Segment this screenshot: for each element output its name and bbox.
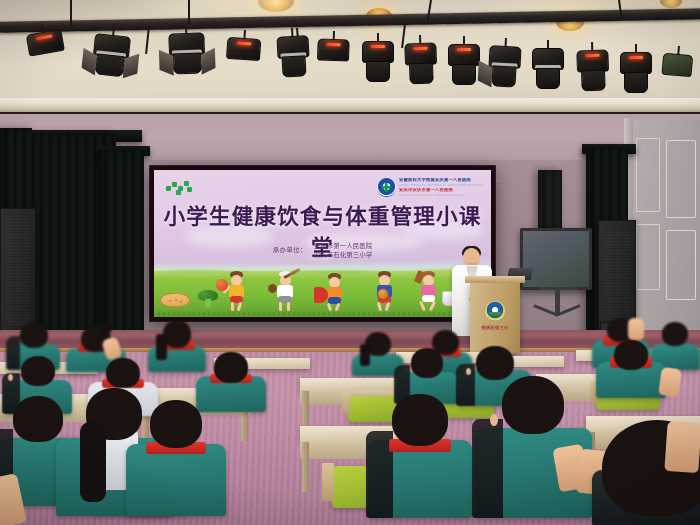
student-ear	[490, 414, 498, 426]
student-shoulder-dark-left	[472, 419, 503, 518]
broccoli-illustration-icon	[198, 290, 218, 308]
stage-curtain-right-inner	[538, 170, 562, 234]
slide-subtitle-values: 安庆市第一人民医院 安庆市石化第三小学	[314, 242, 373, 259]
student-head	[163, 320, 191, 348]
stage-light-5	[276, 27, 310, 77]
student-r3-3	[126, 400, 226, 516]
hospital-name-red-en: Public First Hospital of Anhui Province	[399, 194, 485, 197]
lamp-barndoor	[491, 65, 516, 87]
child-leg-right	[429, 301, 436, 311]
display-rolling-stand	[535, 289, 581, 323]
cartoon-child-baseball	[272, 271, 298, 311]
student-ear	[466, 368, 471, 375]
child-leg-left	[327, 303, 332, 312]
student-ponytail	[156, 334, 167, 360]
child-leg-right	[335, 303, 341, 312]
stage-light-10	[488, 37, 522, 87]
student-r2-6	[596, 340, 666, 398]
ceiling-pot-light-1	[258, 0, 294, 12]
school-crest-icon	[485, 301, 505, 321]
stage-light-9	[448, 36, 480, 84]
organizer-2: 安庆市石化第三小学	[314, 251, 373, 259]
truss-support-wire-1	[70, 0, 72, 26]
stage-light-4	[225, 29, 262, 81]
student-head	[150, 400, 202, 448]
hospital-name-en: ANHUI MEDICAL UNIVERSITY AFFILIATED HOSP…	[399, 184, 485, 187]
lamp-body	[661, 53, 693, 78]
cartoon-child-running-2	[416, 271, 442, 311]
wall-panel-moulding-1	[636, 138, 660, 212]
student-head	[502, 376, 564, 434]
student-head	[106, 358, 140, 388]
student-r3-7-far-left-foreground	[0, 466, 70, 525]
lamp-barndoor	[281, 55, 306, 77]
student-head	[476, 346, 514, 380]
lamp-indicator-led	[629, 56, 643, 59]
lamp-barndoor	[452, 64, 476, 85]
stage-light-13	[620, 44, 652, 92]
hospital-name-red: 安庆市安庆市第一人民医院	[399, 188, 485, 193]
left-line-array-speaker	[0, 208, 36, 336]
lamp-barndoor	[366, 61, 390, 82]
organizer-1: 安庆市第一人民医院	[314, 242, 373, 250]
cartoon-child-running-1	[322, 273, 346, 311]
slide-subtitle: 承办单位： 安庆市第一人民医院 安庆市石化第三小学	[154, 242, 491, 259]
lamp-barndoor	[581, 70, 606, 92]
student-head	[614, 340, 648, 370]
interactive-flat-panel-display[interactable]	[520, 228, 592, 290]
ceiling-pot-light-4	[660, 0, 682, 8]
school-crest-label: 安庆石化三小	[470, 325, 520, 331]
child-leg-left	[231, 302, 234, 311]
wall-panel-moulding-4	[666, 230, 696, 300]
slide-subtitle-label: 承办单位：	[273, 242, 307, 259]
stage-light-12	[576, 41, 610, 90]
stand-crossbar	[539, 287, 577, 290]
lamp-barndoor	[536, 68, 560, 89]
stage-light-11	[532, 40, 564, 88]
wall-panel-moulding-2	[666, 140, 696, 218]
lamp-barndoor	[95, 53, 124, 77]
lamp-indicator-led	[413, 47, 427, 50]
child-leg-right	[237, 302, 242, 311]
student-raised-hand	[664, 421, 700, 473]
lamp-barndoor	[624, 72, 648, 93]
lectern: 安庆石化三小	[470, 281, 520, 353]
student-hair-bun	[100, 322, 112, 334]
student-head	[411, 348, 443, 378]
lamp-indicator-led	[326, 43, 340, 46]
broccoli-stem	[205, 299, 211, 308]
child-leg-left	[419, 301, 426, 311]
student-ponytail	[360, 344, 370, 366]
slide-footer-caption	[158, 312, 487, 316]
hospital-logo-text: 安徽医科大学附属安庆第一人民医院 ANHUI MEDICAL UNIVERSIT…	[399, 177, 485, 198]
cartoon-child-basketball	[224, 271, 248, 311]
auditorium-photo: 安徽医科大学附属安庆第一人民医院 ANHUI MEDICAL UNIVERSIT…	[0, 0, 700, 525]
lamp-body	[226, 37, 261, 61]
lamp-body	[26, 29, 65, 57]
flat-panel-screen	[523, 231, 589, 287]
bread-illustration-icon	[160, 293, 190, 307]
stage-light-3	[168, 24, 206, 77]
student-head	[20, 322, 48, 348]
student-uniform	[126, 444, 226, 516]
stage-light-6	[316, 30, 350, 79]
desk-row2-right	[300, 378, 404, 391]
lamp-indicator-led	[585, 54, 599, 57]
student-hand	[0, 473, 27, 525]
lectern-top-surface	[465, 276, 525, 283]
stage-light-8	[404, 34, 438, 83]
desk-leg-left	[302, 442, 309, 492]
student-head	[21, 356, 55, 386]
student-head	[392, 394, 448, 446]
led-wall-display[interactable]: 安徽医科大学附属安庆第一人民医院 ANHUI MEDICAL UNIVERSIT…	[150, 166, 495, 321]
red-cloth-prop-icon	[314, 287, 328, 303]
student-ear	[8, 374, 13, 381]
child-leg-right	[385, 302, 391, 311]
baseball-glove-icon	[268, 284, 277, 293]
presentation-slide: 安徽医科大学附属安庆第一人民医院 ANHUI MEDICAL UNIVERSIT…	[154, 170, 491, 317]
lamp-indicator-led	[457, 48, 471, 51]
lamp-indicator-led	[371, 45, 385, 48]
basketball-icon	[216, 279, 228, 291]
cartoon-child-soccer	[372, 271, 396, 311]
green-pixel-decoration-icon	[166, 180, 192, 192]
stage-light-14	[660, 45, 694, 93]
student-r3-4	[368, 394, 472, 518]
hospital-emblem-icon	[377, 178, 396, 197]
child-leg-right	[287, 302, 290, 311]
stage-light-2	[91, 25, 132, 80]
student-raised-hand	[628, 318, 644, 340]
lamp-barndoor	[173, 53, 201, 75]
chair-armrest-left	[322, 463, 334, 501]
student-raised-hand	[658, 367, 682, 398]
right-line-array-speaker	[598, 220, 636, 330]
student-ponytail	[80, 422, 106, 502]
crown-molding-upper	[0, 98, 700, 112]
truss-support-wire-2	[188, 0, 190, 24]
child-leg-left	[377, 302, 382, 311]
desk-leg-left	[302, 391, 309, 431]
hospital-logo: 安徽医科大学附属安庆第一人民医院 ANHUI MEDICAL UNIVERSIT…	[377, 174, 485, 200]
hospital-name-cn: 安徽医科大学附属安庆第一人民医院	[399, 178, 485, 183]
stage-light-7	[362, 33, 394, 81]
lamp-body	[317, 38, 350, 61]
lamp-barndoor	[409, 63, 434, 85]
wall-panel-moulding-3	[636, 224, 660, 290]
student-head	[214, 352, 248, 383]
child-leg-left	[279, 302, 282, 311]
stage-curtain-left-inner	[100, 150, 144, 336]
chair-armrest-left	[342, 393, 350, 415]
soccer-ball-icon	[378, 289, 388, 299]
